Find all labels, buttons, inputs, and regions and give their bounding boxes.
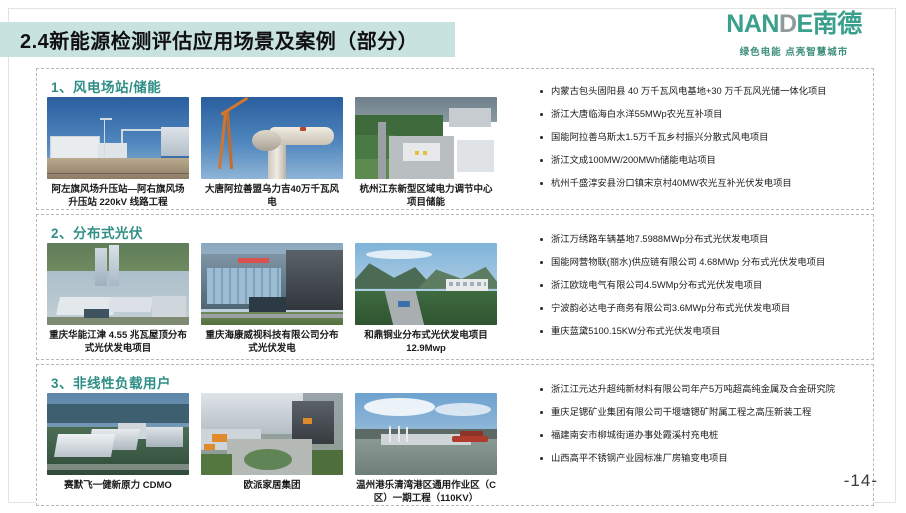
- list-item: 国能网营物联(丽水)供应链有限公司 4.68MWp 分布式光伏发电项目: [537, 256, 867, 268]
- project-card[interactable]: 温州港乐清湾港区通用作业区（C 区）一期工程（110KV）: [355, 393, 497, 506]
- project-bullet-list: 内蒙古包头固阳县 40 万千瓦风电基地+30 万千瓦风光储一体化项目 浙江大唐临…: [537, 85, 867, 200]
- wind-turbine-photo: [201, 97, 343, 179]
- project-card[interactable]: 重庆海康威视科技有限公司分布式光伏发电: [201, 243, 343, 356]
- project-bullet-list: 浙江万绣路车辆基地7.5988MWp分布式光伏发电项目 国能网营物联(丽水)供应…: [537, 233, 867, 348]
- list-item: 内蒙古包头固阳县 40 万千瓦风电基地+30 万千瓦风光储一体化项目: [537, 85, 867, 97]
- aerial-industrial-photo: [47, 243, 189, 325]
- card-caption: 重庆海康威视科技有限公司分布式光伏发电: [201, 330, 343, 356]
- card-caption: 和鼎铜业分布式光伏发电项目12.9Mwp: [355, 330, 497, 356]
- logo-text-e: E: [797, 10, 813, 38]
- mountain-campus-photo: [355, 243, 497, 325]
- section-nonlinear-load: 3、非线性负载用户 赛默飞一健新原力 CDMO 欧派家居集团: [36, 364, 874, 506]
- list-item: 重庆蓝黛5100.15KW分布式光伏发电项目: [537, 325, 867, 337]
- section-wind-storage: 1、风电场站/储能 阿左旗风场升压站—阿右旗风场升压站 220kV 线路工程 大…: [36, 68, 874, 210]
- aerial-storage-photo: [355, 97, 497, 179]
- page-number: -14-: [844, 471, 878, 491]
- office-building-photo: [201, 243, 343, 325]
- project-card[interactable]: 欧派家居集团: [201, 393, 343, 506]
- logo-wordmark: NANDE南德: [704, 12, 884, 37]
- brand-logo: NANDE南德 绿色电能 点亮智慧城市: [704, 12, 884, 58]
- factory-aerial-photo: [201, 393, 343, 475]
- section-heading: 3、非线性负载用户: [51, 372, 171, 392]
- list-item: 福建南安市柳城街道办事处霞溪村充电桩: [537, 429, 867, 441]
- card-row: 赛默飞一健新原力 CDMO 欧派家居集团 温州港乐清湾港区通用作业区（C 区）一…: [47, 393, 497, 506]
- card-caption: 大唐阿拉善盟乌力吉40万千瓦风电: [201, 184, 343, 210]
- project-card[interactable]: 和鼎铜业分布式光伏发电项目12.9Mwp: [355, 243, 497, 356]
- card-caption: 重庆华能江津 4.55 兆瓦屋顶分布式光伏发电项目: [47, 330, 189, 356]
- project-card[interactable]: 重庆华能江津 4.55 兆瓦屋顶分布式光伏发电项目: [47, 243, 189, 356]
- project-card[interactable]: 大唐阿拉善盟乌力吉40万千瓦风电: [201, 97, 343, 210]
- project-card[interactable]: 赛默飞一健新原力 CDMO: [47, 393, 189, 506]
- list-item: 国能阿拉善乌斯太1.5万千瓦乡村振兴分散式风电项目: [537, 131, 867, 143]
- list-item: 宁波韵必达电子商务有限公司3.6MWp分布式光伏发电项目: [537, 302, 867, 314]
- title-band: 2.4新能源检测评估应用场景及案例（部分）: [0, 22, 455, 57]
- list-item: 杭州千盛淳安县汾口镇宋京村40MW农光互补光伏发电项目: [537, 177, 867, 189]
- list-item: 浙江欧珑电气有限公司4.5WMp分布式光伏发电项目: [537, 279, 867, 291]
- list-item: 浙江万绣路车辆基地7.5988MWp分布式光伏发电项目: [537, 233, 867, 245]
- card-caption: 温州港乐清湾港区通用作业区（C 区）一期工程（110KV）: [355, 480, 497, 506]
- logo-text-nan: NAN: [726, 10, 779, 38]
- list-item: 重庆足锶矿业集团有限公司干堰塘锶矿附属工程之高压新装工程: [537, 406, 867, 418]
- project-card[interactable]: 阿左旗风场升压站—阿右旗风场升压站 220kV 线路工程: [47, 97, 189, 210]
- card-caption: 杭州江东新型区域电力调节中心项目储能: [355, 184, 497, 210]
- card-row: 重庆华能江津 4.55 兆瓦屋顶分布式光伏发电项目 重庆海康威视科技有限公司分布…: [47, 243, 497, 356]
- card-caption: 阿左旗风场升压站—阿右旗风场升压站 220kV 线路工程: [47, 184, 189, 210]
- list-item: 浙江大唐临海白水洋55MWp农光互补项目: [537, 108, 867, 120]
- list-item: 山西高平不锈钢产业园标准厂房输变电项目: [537, 452, 867, 464]
- section-distributed-pv: 2、分布式光伏 重庆华能江津 4.55 兆瓦屋顶分布式光伏发电项目 重庆海康威视…: [36, 214, 874, 360]
- slide: 2.4新能源检测评估应用场景及案例（部分） NANDE南德 绿色电能 点亮智慧城…: [0, 0, 906, 513]
- card-row: 阿左旗风场升压站—阿右旗风场升压站 220kV 线路工程 大唐阿拉善盟乌力吉40…: [47, 97, 497, 210]
- card-caption: 赛默飞一健新原力 CDMO: [47, 480, 189, 493]
- port-photo: [355, 393, 497, 475]
- logo-text-cn: 南德: [813, 10, 862, 38]
- substation-photo: [47, 97, 189, 179]
- section-heading: 2、分布式光伏: [51, 222, 143, 242]
- page-title: 2.4新能源检测评估应用场景及案例（部分）: [20, 25, 418, 54]
- project-card[interactable]: 杭州江东新型区域电力调节中心项目储能: [355, 97, 497, 210]
- project-bullet-list: 浙江江元达升超纯新材料有限公司年产5万吨超高纯金属及合金研究院 重庆足锶矿业集团…: [537, 383, 867, 475]
- card-caption: 欧派家居集团: [201, 480, 343, 493]
- list-item: 浙江文成100MW/200MWh储能电站项目: [537, 154, 867, 166]
- section-heading: 1、风电场站/储能: [51, 76, 161, 96]
- logo-tagline: 绿色电能 点亮智慧城市: [704, 44, 884, 58]
- campus-rendering-photo: [47, 393, 189, 475]
- list-item: 浙江江元达升超纯新材料有限公司年产5万吨超高纯金属及合金研究院: [537, 383, 867, 395]
- logo-text-d: D: [779, 10, 797, 38]
